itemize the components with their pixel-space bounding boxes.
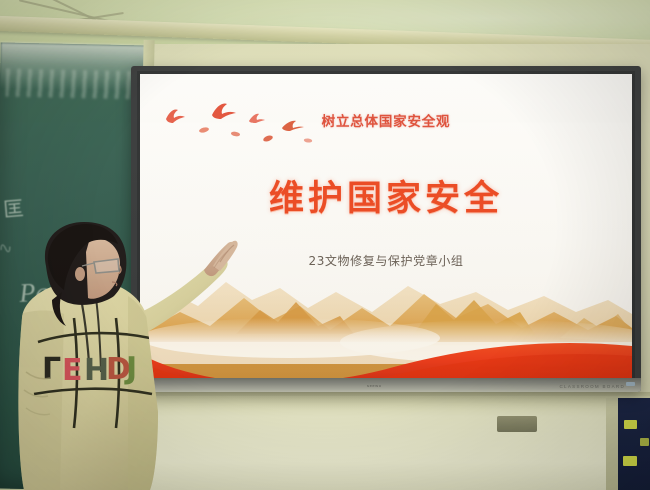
svg-text:Е: Е [62,353,83,388]
wall-mounted-box [497,416,537,432]
display-brand-text: CLASSROOM BOARD [559,384,625,389]
chalk-dust-streaks [6,69,147,100]
power-led-icon [626,382,635,386]
svg-text:Г: Г [42,352,61,387]
chalk-writing: 匡 [2,192,25,223]
slide-title: 维护国家安全 [140,170,632,221]
bulletin-note [640,438,649,446]
student-presenter: Г Е Н D Ј [8,222,238,490]
bulletin-note [623,456,637,466]
display-logo: seewo [367,383,382,388]
screenshot-root: 匡 ∿ Pg [0,0,650,490]
svg-text:Ј: Ј [124,351,137,386]
slide-eyebrow-text: 树立总体国家安全观 [140,110,632,130]
bulletin-note [624,420,637,429]
